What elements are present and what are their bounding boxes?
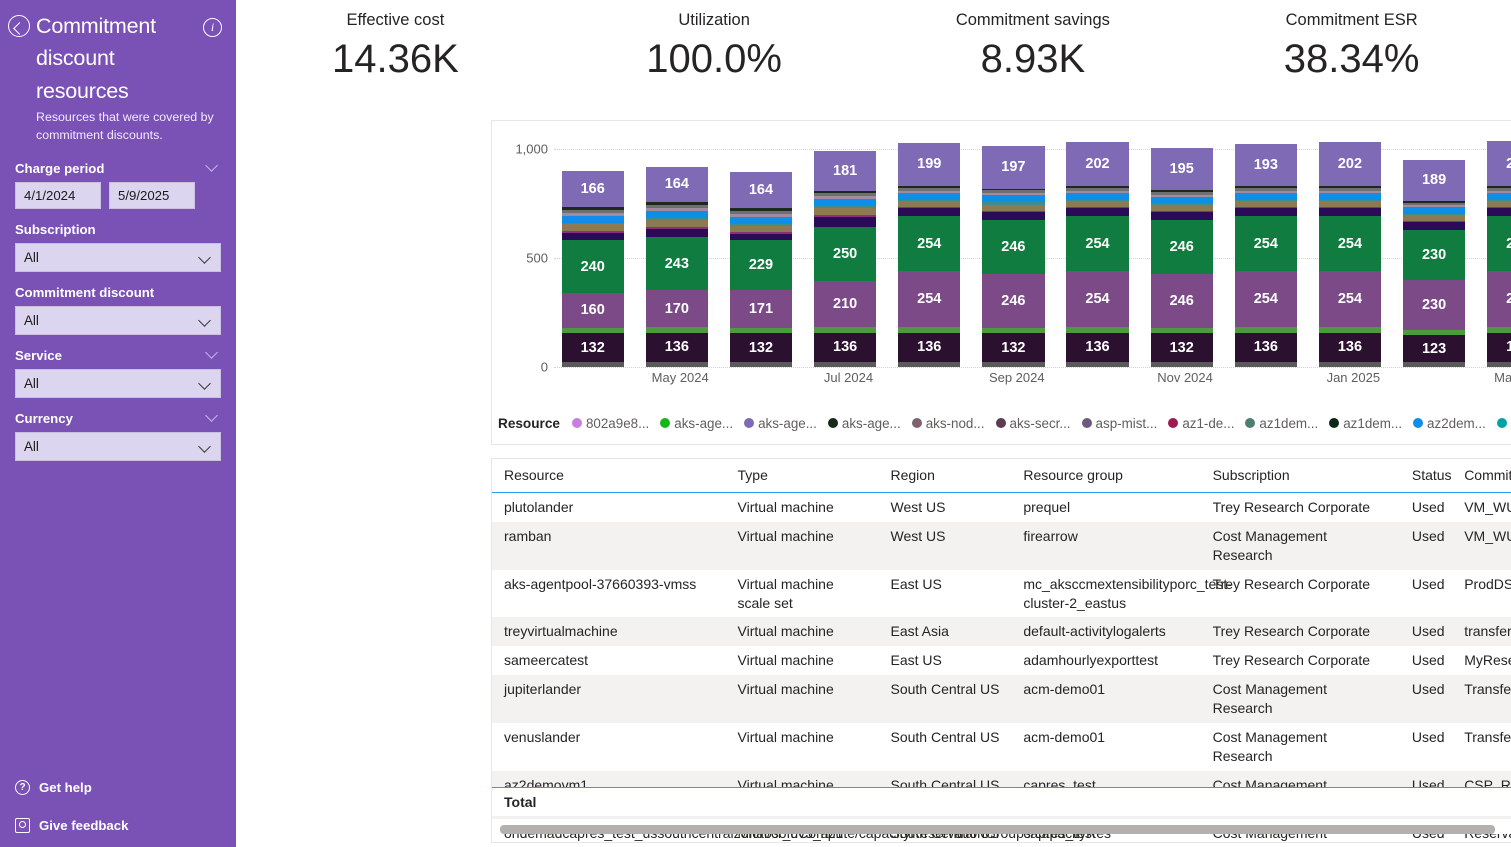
bar-segment-slate-grey[interactable] [1066, 188, 1128, 191]
bar-segment-forest-green[interactable]: 254 [1487, 216, 1511, 271]
table-row[interactable]: sameercatestVirtual machineEast USadamho… [492, 646, 1511, 675]
bar-segment-mid-green[interactable] [562, 328, 624, 334]
bar-segment-deep-indigo[interactable] [898, 208, 960, 216]
bar-segment-deep-indigo[interactable] [1319, 208, 1381, 216]
bar-segment-black-thin[interactable] [982, 189, 1044, 191]
bar-segment-khaki[interactable] [982, 205, 1044, 211]
bar-segment-khaki[interactable] [1151, 205, 1213, 211]
bar-segment-grey-base[interactable] [814, 362, 876, 367]
bar-segment-teal-thin[interactable] [1235, 200, 1297, 201]
y-axis-tick-label: 0 [541, 360, 548, 375]
bar-segment-grey-base[interactable] [1487, 362, 1511, 367]
bar-segment-teal-thin[interactable] [814, 206, 876, 207]
x-axis-tick-label: Sep 2024 [975, 370, 1059, 392]
column-header-resource-group[interactable]: Resource group [1011, 459, 1200, 493]
bar-segment-value-label: 132 [1151, 340, 1213, 356]
bar-segment-mid-green[interactable] [1066, 327, 1128, 333]
bar-slot: 136254254202 [1311, 127, 1395, 367]
bar-segment-black-thin[interactable] [1403, 201, 1465, 203]
bar-segment-slate-grey[interactable] [898, 188, 960, 191]
kpi-commitment-savings: Commitment savings 8.93K [874, 5, 1193, 113]
bar-segment-black-thin[interactable] [898, 186, 960, 188]
table-row[interactable]: venuslanderVirtual machineSouth Central … [492, 723, 1511, 771]
bar-segment-mauve-thin[interactable] [1319, 191, 1381, 193]
bar-segment-azure-blue[interactable] [1319, 193, 1381, 200]
bar-segment-dark-plum[interactable]: 132 [562, 333, 624, 362]
legend-item[interactable]: aks-age... [660, 416, 733, 431]
bar-slot: 136170243164 [638, 127, 722, 367]
bar-segment-slate-grey[interactable] [982, 190, 1044, 193]
bar-segment-black-thin[interactable] [1487, 186, 1511, 188]
bar-segment-black-thin[interactable] [1319, 186, 1381, 188]
x-axis-tick-label: Mar 2025 [1480, 370, 1511, 392]
bar-segment-dark-plum[interactable]: 136 [1066, 333, 1128, 363]
bar-slot: 136254254208 [1480, 127, 1511, 367]
bar-segment-magenta-thin[interactable] [1487, 207, 1511, 208]
bar-segment-plum-purple[interactable]: 230 [1403, 280, 1465, 330]
bar-segment-grey-base[interactable] [1066, 362, 1128, 367]
bar-segment-value-label: 254 [1235, 236, 1297, 252]
bar-segment-forest-green[interactable]: 254 [1319, 216, 1381, 271]
bar-segment-forest-green[interactable]: 246 [982, 220, 1044, 274]
legend-color-dot [744, 418, 754, 428]
bar-segment-khaki[interactable] [898, 201, 960, 207]
bar-segment-dark-plum[interactable]: 136 [1487, 333, 1511, 363]
bar-segment-azure-blue[interactable] [1487, 193, 1511, 200]
bar-segment-black-thin[interactable] [1235, 186, 1297, 188]
bar-segment-lavender-top[interactable]: 202 [1319, 142, 1381, 186]
bar-segment-teal-thin[interactable] [562, 223, 624, 224]
bar-segment-plum-purple[interactable]: 246 [1151, 274, 1213, 328]
bar-segment-mid-green[interactable] [898, 327, 960, 333]
stacked-bar[interactable]: 136254254202 [1319, 142, 1381, 367]
bar-segment-grey-base[interactable] [1235, 362, 1297, 367]
table-row[interactable]: aks-agentpool-37660393-vmssVirtual machi… [492, 570, 1511, 618]
bar-segment-grey-base[interactable] [1403, 362, 1465, 367]
bar-segment-mauve-thin[interactable] [1235, 191, 1297, 193]
type-cell: Virtual machine [726, 617, 879, 646]
legend-item[interactable]: aks-age... [744, 416, 817, 431]
bar-segment-lavender-top[interactable]: 189 [1403, 160, 1465, 201]
stacked-bar[interactable]: 136254254193 [1235, 144, 1297, 367]
bar-segment-value-label: 254 [1319, 291, 1381, 307]
bar-segment-dark-plum[interactable]: 136 [814, 333, 876, 363]
bar-segment-value-label: 136 [1235, 339, 1297, 355]
legend-item[interactable]: aks-nod... [912, 416, 985, 431]
bar-segment-forest-green[interactable]: 254 [1235, 216, 1297, 271]
kpi-value: 38.34% [1192, 34, 1511, 84]
kpi-effective-cost: Effective cost 14.36K [236, 5, 555, 113]
subscription-select[interactable]: All [15, 243, 221, 272]
bar-segment-forest-green[interactable]: 246 [1151, 220, 1213, 274]
bar-segment-deep-indigo[interactable] [814, 217, 876, 227]
bar-segment-black-thin[interactable] [814, 191, 876, 194]
table-row[interactable]: plutolanderVirtual machineWest USprequel… [492, 493, 1511, 522]
bar-slot: 132160240166 [554, 127, 638, 367]
legend-color-dot [572, 418, 582, 428]
type-cell: Virtual machine scale set [726, 570, 879, 618]
column-header-resource[interactable]: Resource [492, 459, 726, 493]
bar-segment-grey-base[interactable] [1319, 362, 1381, 367]
bar-segment-teal-thin[interactable] [1403, 214, 1465, 215]
bar-segment-deep-indigo[interactable] [1487, 208, 1511, 216]
bar-segment-azure-blue[interactable] [898, 193, 960, 200]
bar-segment-lavender-top[interactable]: 181 [814, 151, 876, 190]
bar-segment-plum-purple[interactable]: 210 [814, 281, 876, 327]
bar-segment-plum-purple[interactable]: 246 [982, 274, 1044, 328]
column-header-type[interactable]: Type [726, 459, 879, 493]
status-cell: Used [1400, 675, 1452, 723]
bar-segment-dark-plum[interactable]: 123 [1403, 335, 1465, 362]
get-help-link[interactable]: ? Get help [15, 780, 221, 795]
bar-segment-forest-green[interactable]: 243 [646, 237, 708, 290]
currency-select[interactable]: All [15, 432, 221, 461]
kpi-label: Commitment ESR [1192, 11, 1511, 30]
bar-segment-lavender-top[interactable]: 202 [1066, 142, 1128, 186]
bar-segment-plum-purple[interactable]: 171 [730, 290, 792, 327]
bar-segment-magenta-thin[interactable] [1151, 211, 1213, 212]
bar-segment-magenta-thin[interactable] [814, 215, 876, 217]
type-cell: Virtual machine [726, 675, 879, 723]
bar-segment-value-label: 254 [898, 236, 960, 252]
bar-segment-grey-base[interactable] [730, 362, 792, 367]
stacked-bar[interactable]: 136210250181 [814, 151, 876, 367]
bar-segment-khaki[interactable] [646, 220, 708, 227]
filter-charge-period: Charge period 4/1/2024 5/9/2025 [15, 161, 221, 209]
region-cell: West US [879, 522, 1012, 570]
stacked-bar[interactable]: 136170243164 [646, 167, 708, 367]
bar-segment-slate-grey[interactable] [1151, 192, 1213, 195]
info-icon[interactable]: i [203, 18, 222, 37]
bar-segment-azure-blue[interactable] [1235, 193, 1297, 200]
bar-segment-plum-purple[interactable]: 254 [1487, 271, 1511, 326]
bar-segment-plum-purple[interactable]: 254 [1066, 271, 1128, 326]
bar-segment-mid-green[interactable] [1235, 327, 1297, 333]
bar-segment-mid-green[interactable] [1151, 328, 1213, 334]
bar-segment-dark-plum[interactable]: 136 [1235, 333, 1297, 363]
bar-segment-lavender-top[interactable]: 164 [646, 167, 708, 203]
table-row[interactable]: jupiterlanderVirtual machineSouth Centra… [492, 675, 1511, 723]
bar-segment-azure-blue[interactable] [1151, 197, 1213, 204]
bar-segment-value-label: 254 [1487, 291, 1511, 307]
legend-color-dot [1329, 418, 1339, 428]
column-header-status[interactable]: Status [1400, 459, 1452, 493]
subscription-cell: Trey Research Corporate [1201, 617, 1400, 646]
bar-segment-mid-green[interactable] [814, 327, 876, 333]
bar-segment-black-thin[interactable] [646, 202, 708, 205]
bar-segment-deep-indigo[interactable] [730, 234, 792, 241]
bar-segment-dark-plum[interactable]: 136 [646, 333, 708, 363]
bar-segment-value-label: 246 [1151, 293, 1213, 309]
bar-segment-forest-green[interactable]: 240 [562, 240, 624, 292]
bar-segment-khaki[interactable] [1487, 201, 1511, 207]
bar-segment-dark-plum[interactable]: 136 [1319, 333, 1381, 363]
bar-segment-teal-thin[interactable] [1151, 203, 1213, 204]
bar-segment-value-label: 254 [898, 291, 960, 307]
bar-segment-plum-purple[interactable]: 160 [562, 293, 624, 328]
bar-segment-teal-thin[interactable] [1319, 200, 1381, 201]
bar-segment-slate-grey[interactable] [1319, 188, 1381, 191]
bar-segment-black-thin[interactable] [1066, 186, 1128, 188]
resources-table-card[interactable]: Resource Type Region Resource group Subs… [491, 458, 1511, 843]
main-content: Effective cost 14.36K Utilization 100.0%… [236, 0, 1511, 847]
bar-segment-deep-indigo[interactable] [1151, 212, 1213, 220]
bar-segment-deep-indigo[interactable] [982, 212, 1044, 220]
bar-segment-azure-blue[interactable] [1066, 193, 1128, 200]
bar-segment-magenta-thin[interactable] [982, 211, 1044, 212]
bar-segment-mauve-thin[interactable] [898, 191, 960, 193]
bar-segment-plum-purple[interactable]: 254 [1319, 271, 1381, 326]
column-header-subscription[interactable]: Subscription [1201, 459, 1400, 493]
bar-segment-lavender-top[interactable]: 164 [730, 172, 792, 208]
bar-segment-deep-indigo[interactable] [1235, 208, 1297, 216]
bar-segment-value-label: 229 [730, 257, 792, 273]
bar-segment-magenta-thin[interactable] [646, 227, 708, 229]
bar-segment-black-thin[interactable] [562, 207, 624, 210]
bar-segment-plum-purple[interactable]: 254 [898, 271, 960, 326]
bar-segment-slate-grey[interactable] [814, 193, 876, 196]
bar-segment-teal-thin[interactable] [1487, 200, 1511, 201]
filters-list: Charge period 4/1/2024 5/9/2025 Subscrip… [0, 145, 236, 461]
bar-segment-magenta-thin[interactable] [562, 231, 624, 233]
bar-segment-forest-green[interactable]: 254 [898, 216, 960, 271]
commitment-discount-select[interactable]: All [15, 306, 221, 335]
bar-segment-mid-green[interactable] [646, 327, 708, 332]
stacked-bar[interactable]: 136254254208 [1487, 141, 1511, 367]
bar-segment-azure-blue[interactable] [982, 195, 1044, 202]
bar-segment-khaki[interactable] [1319, 201, 1381, 207]
bar-segment-value-label: 132 [562, 340, 624, 356]
bar-segment-lavender-top[interactable]: 166 [562, 171, 624, 207]
legend-item[interactable]: az2dem... [1413, 416, 1486, 431]
bar-segment-teal-thin[interactable] [730, 224, 792, 225]
bar-segment-deep-indigo[interactable] [1403, 222, 1465, 229]
subscription-cell: Cost Management Research [1201, 675, 1400, 723]
stacked-bar[interactable]: 132171229164 [730, 172, 792, 367]
bar-segment-value-label: 170 [646, 301, 708, 317]
bar-segment-deep-indigo[interactable] [562, 233, 624, 241]
bar-segment-deep-indigo[interactable] [1066, 208, 1128, 216]
legend-item[interactable]: az1-de... [1168, 416, 1234, 431]
bar-segment-forest-green[interactable]: 229 [730, 240, 792, 290]
bar-segment-khaki[interactable] [1403, 215, 1465, 221]
bar-segment-teal-thin[interactable] [646, 218, 708, 219]
bar-segment-value-label: 246 [1151, 239, 1213, 255]
table-total-row: Total [492, 787, 1511, 816]
bar-segment-mid-green[interactable] [982, 328, 1044, 334]
bar-segment-value-label: 181 [814, 163, 876, 179]
bar-segment-mid-green[interactable] [1319, 327, 1381, 333]
stacked-bar[interactable]: 123230230189 [1403, 160, 1465, 367]
bar-segment-khaki[interactable] [1235, 201, 1297, 207]
bar-segment-deep-indigo[interactable] [646, 229, 708, 237]
bars-container: 1321602401661361702431641321712291641362… [554, 127, 1511, 367]
x-axis-tick-label [1227, 370, 1311, 392]
kpi-value: 8.93K [874, 34, 1193, 84]
kpi-utilization: Utilization 100.0% [555, 5, 874, 113]
bar-segment-grey-base[interactable] [982, 362, 1044, 367]
gridline-baseline [554, 367, 1511, 368]
filter-commitment-discount: Commitment discount All [15, 285, 221, 335]
bar-segment-black-thin[interactable] [730, 208, 792, 211]
bar-segment-value-label: 136 [814, 339, 876, 355]
table-horizontal-scrollbar-thumb[interactable] [500, 825, 1495, 834]
commitment-cell: TransferPatchTest [1452, 723, 1511, 771]
bar-segment-lavender-top[interactable]: 197 [982, 146, 1044, 189]
bar-segment-forest-green[interactable]: 230 [1403, 230, 1465, 280]
bar-segment-value-label: 208 [1487, 156, 1511, 172]
bar-segment-slate-grey[interactable] [1403, 203, 1465, 206]
bar-segment-dark-plum[interactable]: 136 [898, 333, 960, 363]
bar-segment-value-label: 254 [1235, 291, 1297, 307]
bar-segment-khaki[interactable] [814, 208, 876, 215]
bar-segment-magenta-thin[interactable] [1066, 207, 1128, 208]
stacked-bar[interactable]: 136254254202 [1066, 142, 1128, 367]
bar-segment-dark-plum[interactable]: 132 [730, 333, 792, 362]
bar-segment-khaki[interactable] [730, 226, 792, 233]
kpi-value: 100.0% [555, 34, 874, 84]
bar-segment-azure-blue[interactable] [814, 199, 876, 206]
column-header-commitment[interactable]: Commitment [1452, 459, 1511, 493]
bar-segment-value-label: 230 [1403, 247, 1465, 263]
table-row[interactable]: treyvirtualmachineVirtual machineEast As… [492, 617, 1511, 646]
table-row[interactable]: rambanVirtual machineWest USfirearrowCos… [492, 522, 1511, 570]
chevron-down-icon[interactable] [206, 161, 219, 174]
legend-color-dot [1245, 418, 1255, 428]
bar-segment-mid-green[interactable] [1487, 327, 1511, 333]
bar-segment-magenta-thin[interactable] [1319, 207, 1381, 208]
bar-segment-mid-green[interactable] [730, 328, 792, 334]
bar-segment-lavender-top[interactable]: 208 [1487, 141, 1511, 186]
bar-slot: 136210250181 [806, 127, 890, 367]
bar-segment-magenta-thin[interactable] [898, 207, 960, 208]
give-feedback-link[interactable]: Give feedback [15, 818, 221, 833]
stacked-bar[interactable]: 132160240166 [562, 171, 624, 367]
bar-segment-azure-blue[interactable] [730, 217, 792, 224]
bar-segment-mauve-thin[interactable] [646, 208, 708, 211]
chevron-down-icon [200, 253, 211, 264]
bar-segment-magenta-thin[interactable] [1403, 221, 1465, 222]
bar-segment-value-label: 164 [730, 182, 792, 198]
filter-label-commitment-discount: Commitment discount [15, 285, 221, 300]
bar-segment-mid-green[interactable] [1403, 330, 1465, 335]
bar-segment-lavender-top[interactable]: 193 [1235, 144, 1297, 186]
legend-item[interactable]: az1dem... [1329, 416, 1402, 431]
service-select[interactable]: All [15, 369, 221, 398]
resource-cell: venuslander [492, 723, 726, 771]
get-help-label: Get help [39, 780, 92, 795]
bar-segment-khaki[interactable] [562, 224, 624, 231]
chevron-down-icon[interactable] [206, 411, 219, 424]
stacked-bar[interactable]: 136254254199 [898, 143, 960, 367]
legend-item[interactable]: az2dem... [1497, 416, 1511, 431]
stacked-bar[interactable]: 132246246197 [982, 146, 1044, 367]
bar-segment-value-label: 160 [562, 302, 624, 318]
legend-item[interactable]: aks-age... [828, 416, 901, 431]
bar-segment-grey-base[interactable] [1151, 362, 1213, 367]
table-horizontal-scrollbar[interactable] [500, 825, 1511, 834]
bar-segment-teal-thin[interactable] [1066, 200, 1128, 201]
question-mark-icon: ? [15, 780, 30, 795]
charge-period-end-input[interactable]: 5/9/2025 [109, 182, 195, 209]
bar-segment-khaki[interactable] [1066, 201, 1128, 207]
bar-segment-magenta-thin[interactable] [1235, 207, 1297, 208]
bar-segment-value-label: 254 [1487, 236, 1511, 252]
bar-segment-plum-purple[interactable]: 254 [1235, 271, 1297, 326]
bar-segment-magenta-thin[interactable] [730, 232, 792, 234]
charge-period-start-input[interactable]: 4/1/2024 [15, 182, 101, 209]
legend-item[interactable]: aks-secr... [996, 416, 1071, 431]
bar-segment-forest-green[interactable]: 254 [1066, 216, 1128, 271]
bar-segment-grey-base[interactable] [898, 362, 960, 367]
bar-segment-mauve-thin[interactable] [982, 193, 1044, 195]
bar-segment-lavender-top[interactable]: 199 [898, 143, 960, 186]
bar-segment-azure-blue[interactable] [562, 216, 624, 223]
chevron-down-icon [200, 442, 211, 453]
bar-segment-azure-blue[interactable] [1403, 207, 1465, 214]
bar-segment-mauve-thin[interactable] [562, 213, 624, 216]
bar-segment-plum-purple[interactable]: 170 [646, 290, 708, 327]
stacked-bar-chart-card[interactable]: 05001,000 132160240166136170243164132171… [491, 120, 1511, 445]
bar-segment-teal-thin[interactable] [982, 202, 1044, 205]
bar-slot: 132246246195 [1143, 127, 1227, 367]
legend-item-label: aks-age... [674, 416, 733, 431]
bar-segment-mauve-thin[interactable] [814, 196, 876, 199]
column-header-region[interactable]: Region [879, 459, 1012, 493]
legend-item[interactable]: asp-mist... [1082, 416, 1158, 431]
bar-segment-lavender-top[interactable]: 195 [1151, 148, 1213, 191]
legend-color-dot [828, 418, 838, 428]
bar-segment-forest-green[interactable]: 250 [814, 227, 876, 282]
bar-segment-value-label: 193 [1235, 157, 1297, 173]
back-arrow-icon[interactable] [8, 15, 30, 37]
bar-segment-mauve-thin[interactable] [730, 214, 792, 217]
type-cell: Virtual machine [726, 493, 879, 522]
kpi-row: Effective cost 14.36K Utilization 100.0%… [236, 0, 1511, 113]
bar-segment-dark-plum[interactable]: 132 [982, 333, 1044, 362]
bar-segment-black-thin[interactable] [1151, 190, 1213, 192]
resource-cell: aks-agentpool-37660393-vmss [492, 570, 726, 618]
bar-segment-value-label: 243 [646, 256, 708, 272]
bar-segment-azure-blue[interactable] [646, 211, 708, 218]
bar-segment-grey-base[interactable] [646, 362, 708, 367]
legend-item[interactable]: az1dem... [1245, 416, 1318, 431]
type-cell: Virtual machine [726, 522, 879, 570]
bar-segment-slate-grey[interactable] [1235, 188, 1297, 191]
bar-segment-slate-grey[interactable] [1487, 188, 1511, 191]
legend-item[interactable]: 802a9e8... [572, 416, 649, 431]
bar-segment-dark-plum[interactable]: 132 [1151, 333, 1213, 362]
resource-group-cell: adamhourlyexporttest [1011, 646, 1200, 675]
bar-segment-slate-grey[interactable] [646, 205, 708, 208]
bar-segment-slate-grey[interactable] [730, 211, 792, 214]
chevron-down-icon[interactable] [206, 348, 219, 361]
bar-segment-grey-base[interactable] [562, 362, 624, 367]
stacked-bar[interactable]: 132246246195 [1151, 148, 1213, 367]
bar-segment-slate-grey[interactable] [562, 210, 624, 213]
bar-segment-teal-thin[interactable] [898, 200, 960, 201]
region-cell: East US [879, 570, 1012, 618]
region-cell: East Asia [879, 617, 1012, 646]
legend-color-dot [660, 418, 670, 428]
bar-segment-mauve-thin[interactable] [1487, 191, 1511, 193]
bar-segment-mauve-thin[interactable] [1066, 191, 1128, 193]
bar-segment-mauve-thin[interactable] [1403, 205, 1465, 207]
x-axis-tick-label: Jan 2025 [1311, 370, 1395, 392]
x-axis-tick-label [554, 370, 638, 392]
bar-segment-mauve-thin[interactable] [1151, 195, 1213, 197]
sidebar-footer: ? Get help Give feedback [15, 780, 221, 841]
